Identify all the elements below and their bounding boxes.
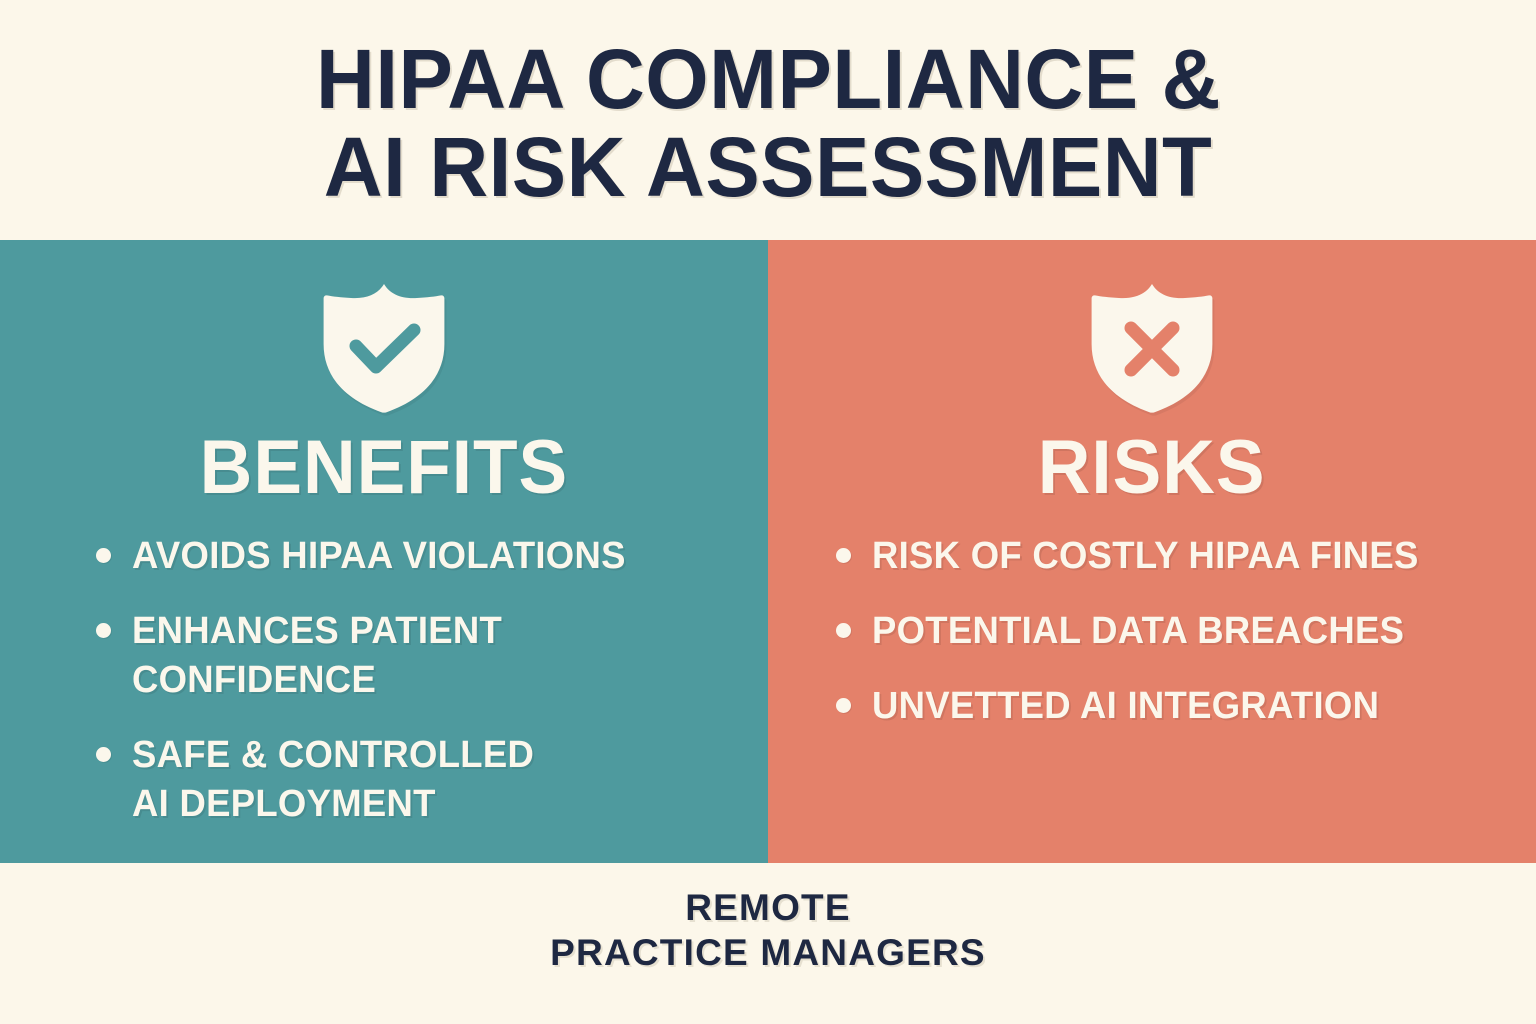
benefits-item-3: SAFE & CONTROLLED AI DEPLOYMENT <box>132 731 534 829</box>
list-item: RISK OF COSTLY HIPAA FINES <box>836 532 1512 581</box>
risks-item-1: RISK OF COSTLY HIPAA FINES <box>872 532 1419 581</box>
footer-line-2: PRACTICE MANAGERS <box>550 930 986 975</box>
bullet-dot-icon <box>96 623 111 638</box>
list-item: SAFE & CONTROLLED AI DEPLOYMENT <box>96 731 744 829</box>
footer-line-1: REMOTE <box>685 885 850 930</box>
title-line-1: HIPAA COMPLIANCE & <box>315 35 1220 123</box>
poster-footer: REMOTE PRACTICE MANAGERS <box>0 863 1536 1024</box>
title-line-2: AI RISK ASSESSMENT <box>324 123 1213 211</box>
bullet-dot-icon <box>96 747 111 762</box>
risks-heading: RISKS <box>1038 428 1266 508</box>
risks-list: RISK OF COSTLY HIPAA FINES POTENTIAL DAT… <box>768 508 1536 757</box>
risks-item-2: POTENTIAL DATA BREACHES <box>872 607 1404 656</box>
risks-panel: RISKS RISK OF COSTLY HIPAA FINES POTENTI… <box>768 240 1536 863</box>
benefits-item-1: AVOIDS HIPAA VIOLATIONS <box>132 532 626 581</box>
benefits-list: AVOIDS HIPAA VIOLATIONS ENHANCES PATIENT… <box>0 508 768 855</box>
shield-x-icon <box>1089 282 1215 414</box>
benefits-item-2: ENHANCES PATIENT CONFIDENCE <box>132 607 502 705</box>
bullet-dot-icon <box>836 623 851 638</box>
poster-title: HIPAA COMPLIANCE & AI RISK ASSESSMENT <box>0 0 1536 240</box>
list-item: ENHANCES PATIENT CONFIDENCE <box>96 607 744 705</box>
comparison-panels: BENEFITS AVOIDS HIPAA VIOLATIONS ENHANCE… <box>0 240 1536 863</box>
risks-item-3: UNVETTED AI INTEGRATION <box>872 682 1379 731</box>
bullet-dot-icon <box>836 698 851 713</box>
benefits-heading: BENEFITS <box>200 428 568 508</box>
list-item: UNVETTED AI INTEGRATION <box>836 682 1512 731</box>
infographic-poster: HIPAA COMPLIANCE & AI RISK ASSESSMENT BE… <box>0 0 1536 1024</box>
list-item: AVOIDS HIPAA VIOLATIONS <box>96 532 744 581</box>
shield-check-icon <box>321 282 447 414</box>
list-item: POTENTIAL DATA BREACHES <box>836 607 1512 656</box>
bullet-dot-icon <box>96 548 111 563</box>
bullet-dot-icon <box>836 548 851 563</box>
benefits-panel: BENEFITS AVOIDS HIPAA VIOLATIONS ENHANCE… <box>0 240 768 863</box>
